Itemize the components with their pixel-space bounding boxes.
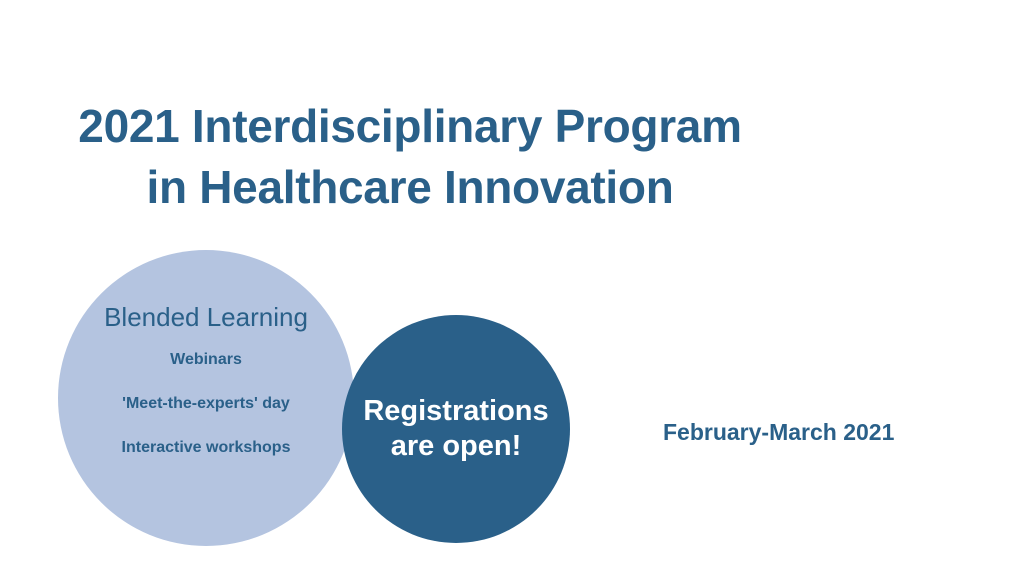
page-title: 2021 Interdisciplinary Program in Health… bbox=[0, 96, 820, 218]
registrations-line-1: Registrations bbox=[363, 394, 548, 429]
event-date: February-March 2021 bbox=[663, 421, 894, 444]
registrations-line-2: are open! bbox=[363, 429, 548, 464]
blended-learning-list: Webinars 'Meet-the-experts' day Interact… bbox=[122, 352, 291, 456]
list-item: 'Meet-the-experts' day bbox=[122, 396, 290, 412]
list-item: Interactive workshops bbox=[122, 440, 291, 456]
registrations-circle[interactable]: Registrations are open! bbox=[342, 315, 570, 543]
poster-canvas: 2021 Interdisciplinary Program in Health… bbox=[0, 0, 1024, 576]
page-title-line-2: in Healthcare Innovation bbox=[0, 157, 820, 218]
blended-learning-title: Blended Learning bbox=[104, 304, 308, 330]
blended-learning-circle: Blended Learning Webinars 'Meet-the-expe… bbox=[58, 250, 354, 546]
list-item: Webinars bbox=[170, 352, 242, 368]
registrations-text: Registrations are open! bbox=[363, 394, 548, 464]
page-title-line-1: 2021 Interdisciplinary Program bbox=[0, 96, 820, 157]
blended-learning-content: Blended Learning Webinars 'Meet-the-expe… bbox=[58, 250, 354, 546]
